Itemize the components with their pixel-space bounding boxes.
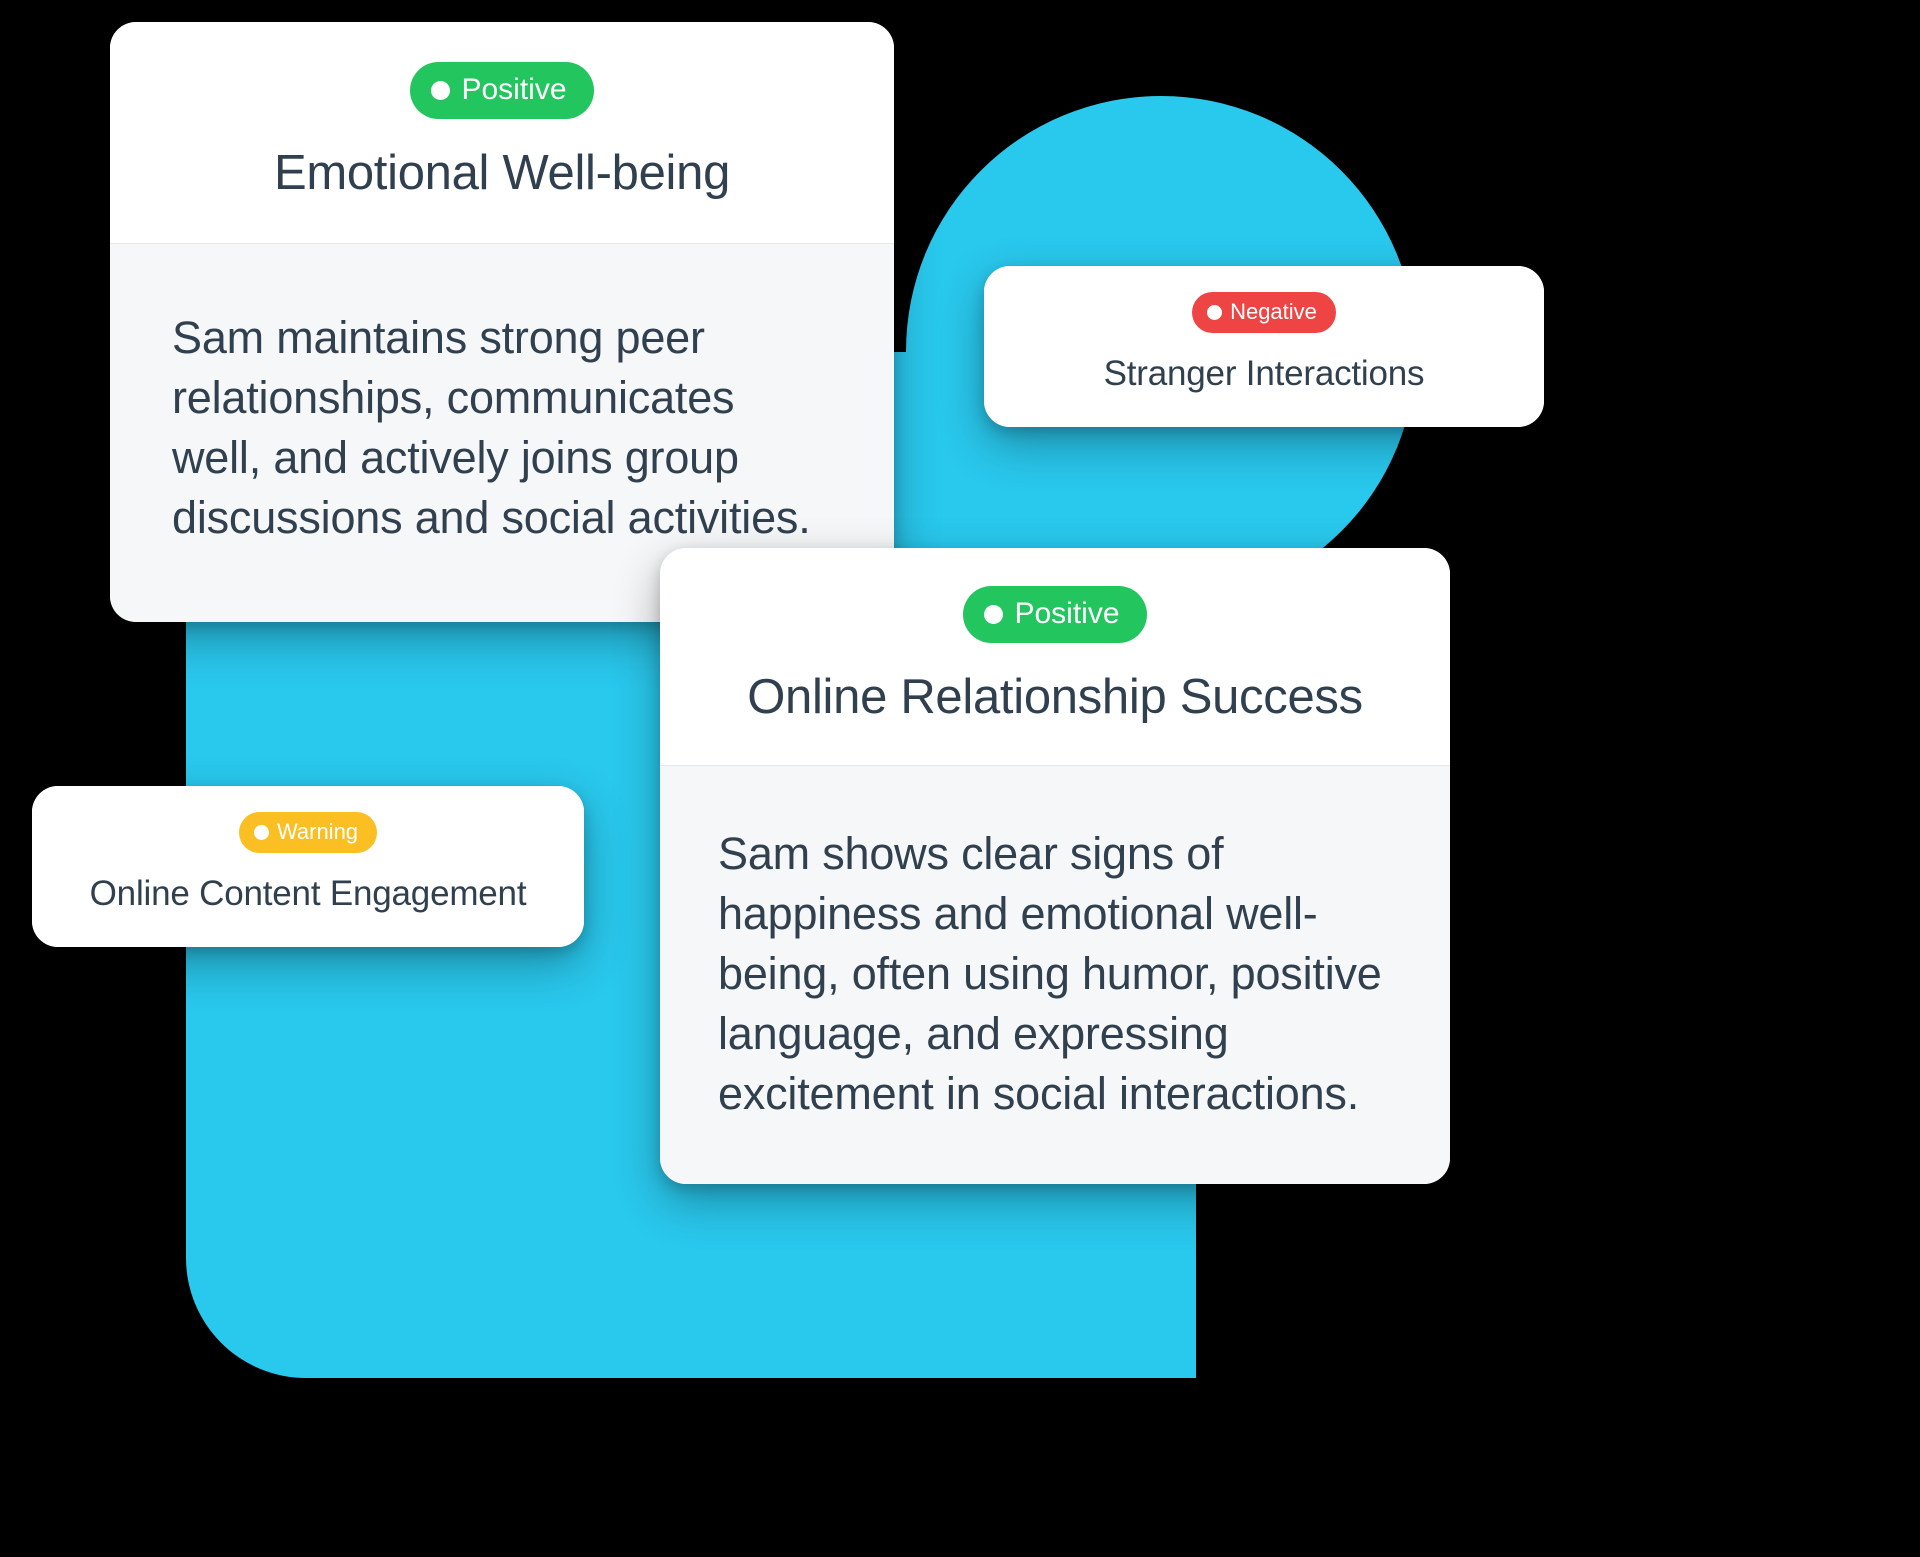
card-header: Negative Stranger Interactions [984, 266, 1544, 427]
insight-cards-composition: Positive Emotional Well-being Sam mainta… [0, 0, 1920, 1557]
card-title: Stranger Interactions [1014, 353, 1514, 395]
status-badge-label: Negative [1230, 301, 1317, 323]
card-description: Sam shows clear signs of happiness and e… [718, 824, 1400, 1123]
status-dot-icon [254, 825, 269, 840]
card-title: Online Relationship Success [694, 669, 1416, 725]
card-header: Positive Emotional Well-being [110, 22, 894, 243]
status-dot-icon [1207, 305, 1222, 320]
card-stranger-interactions[interactable]: Negative Stranger Interactions [984, 266, 1544, 427]
status-badge-positive: Positive [963, 586, 1146, 643]
card-header: Warning Online Content Engagement [32, 786, 584, 947]
card-online-content-engagement[interactable]: Warning Online Content Engagement [32, 786, 584, 947]
status-dot-icon [431, 81, 450, 100]
card-title: Emotional Well-being [144, 145, 860, 201]
card-online-relationship-success[interactable]: Positive Online Relationship Success Sam… [660, 548, 1450, 1184]
status-badge-label: Positive [1014, 599, 1119, 629]
status-badge-positive: Positive [410, 62, 593, 119]
card-header: Positive Online Relationship Success [660, 548, 1450, 765]
status-dot-icon [984, 605, 1003, 624]
status-badge-label: Warning [277, 821, 358, 843]
card-body: Sam shows clear signs of happiness and e… [660, 765, 1450, 1183]
card-description: Sam maintains strong peer relationships,… [172, 308, 834, 547]
card-title: Online Content Engagement [56, 873, 560, 915]
card-emotional-well-being[interactable]: Positive Emotional Well-being Sam mainta… [110, 22, 894, 622]
status-badge-negative: Negative [1192, 292, 1336, 333]
status-badge-warning: Warning [239, 812, 377, 853]
status-badge-label: Positive [461, 75, 566, 105]
